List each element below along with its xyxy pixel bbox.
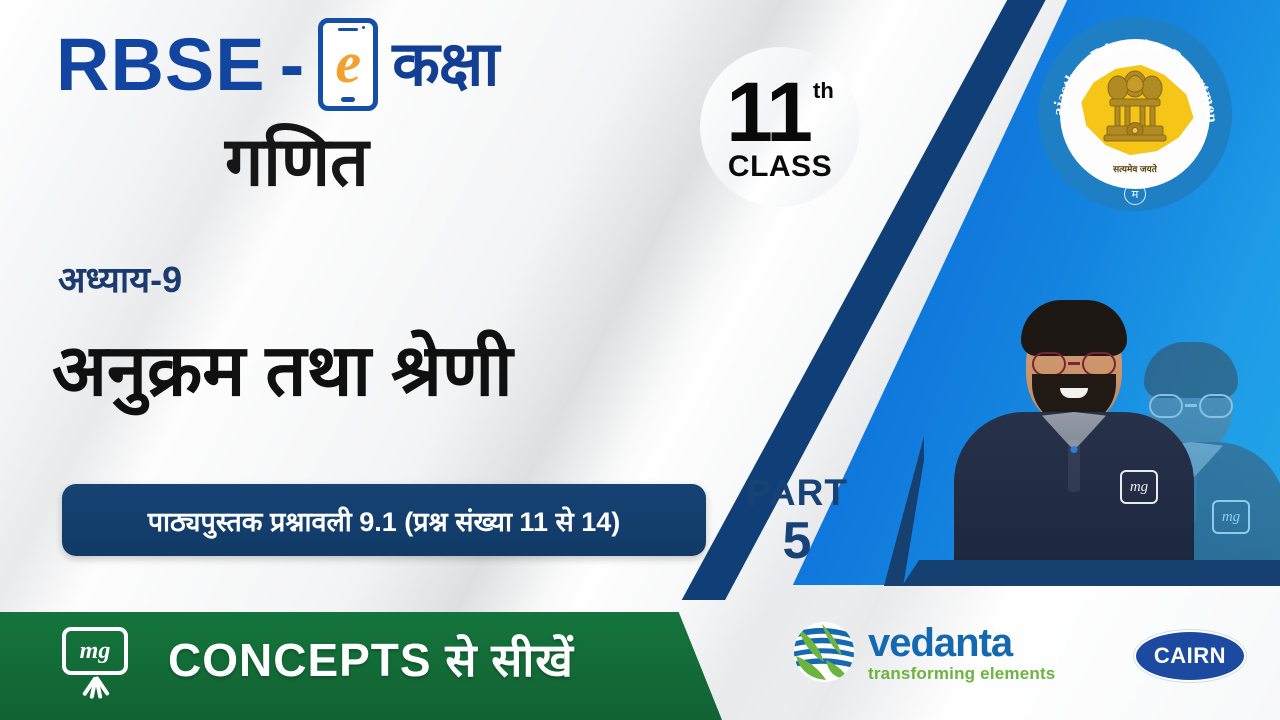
- mg-easel-legs-icon: [74, 677, 116, 699]
- instructor-front-chest-logo: mg: [1120, 470, 1158, 504]
- instructor-back-hair: [1144, 342, 1238, 398]
- class-badge-number: 11: [726, 70, 811, 154]
- cairn-logo: CAIRN: [1134, 630, 1246, 682]
- exercise-badge: पाठ्यपुस्तक प्रश्नावली 9.1 (प्रश्न संख्य…: [62, 484, 706, 556]
- instructor-photo-group: mg mg: [902, 232, 1280, 562]
- phone-home-button-icon: [341, 97, 355, 102]
- instructor-front-torso: mg: [954, 412, 1194, 562]
- vedanta-tagline: transforming elements: [868, 665, 1055, 682]
- instructor-front-shirt-button: [1071, 446, 1078, 453]
- class-badge-word: CLASS: [728, 150, 832, 184]
- brand-kaksha-text: कक्षा: [392, 34, 498, 96]
- rajasthan-education-department-seal: Rajasthan Education Department: [1038, 17, 1232, 211]
- vedanta-globe-icon: [792, 620, 856, 684]
- cairn-name: CAIRN: [1154, 643, 1226, 669]
- instructor-back-chest-logo: mg: [1212, 500, 1250, 534]
- phone-speaker-icon: [338, 28, 358, 31]
- instructor-front: mg: [954, 412, 1194, 562]
- mg-easel-logo-icon: mg: [62, 627, 128, 683]
- chapter-title: अनुक्रम तथा श्रेणी: [52, 332, 513, 411]
- seal-motto: सत्यमेव जयते: [1060, 162, 1210, 175]
- instructor-front-glasses-icon: [1030, 352, 1118, 376]
- vedanta-name: vedanta: [868, 623, 1055, 663]
- brand-dash: -: [280, 28, 305, 102]
- photo-frame-bottom-edge: [902, 560, 1280, 586]
- brand-e-letter: e: [335, 34, 361, 92]
- class-badge-number-group: 11 th: [726, 70, 834, 154]
- part-number: 5: [746, 515, 848, 567]
- vedanta-text-group: vedanta transforming elements: [868, 623, 1055, 682]
- chapter-number: अध्याय-9: [58, 262, 182, 298]
- footer-tagline: CONCEPTS से सीखें: [168, 628, 574, 690]
- vedanta-logo: vedanta transforming elements: [792, 620, 1055, 684]
- brand-wordmark: RBSE - e कक्षा: [56, 18, 498, 111]
- subject-title: गणित: [225, 128, 369, 196]
- part-indicator: PART 5: [746, 474, 848, 567]
- part-label: PART: [746, 474, 848, 511]
- class-badge-ordinal: th: [813, 80, 834, 102]
- instructor-front-head: [1026, 308, 1122, 424]
- phone-camera-icon: [362, 26, 365, 29]
- seal-mini-mark: म: [1124, 183, 1146, 205]
- class-badge: 11 th CLASS: [700, 47, 860, 207]
- ashoka-emblem-icon: [1098, 68, 1172, 154]
- thumbnail-canvas: RBSE - e कक्षा गणित अध्याय-9 अनुक्रम तथा…: [0, 0, 1280, 720]
- instructor-front-shirt: mg: [954, 412, 1194, 562]
- brand-rbse-text: RBSE: [56, 28, 266, 102]
- smartphone-icon: e: [318, 18, 378, 111]
- mg-board-icon: mg: [62, 627, 128, 675]
- exercise-badge-label: पाठ्यपुस्तक प्रश्नावली 9.1 (प्रश्न संख्य…: [148, 502, 621, 539]
- seal-inner-disc: सत्यमेव जयते: [1060, 39, 1210, 189]
- instructor-front-hair: [1021, 300, 1127, 356]
